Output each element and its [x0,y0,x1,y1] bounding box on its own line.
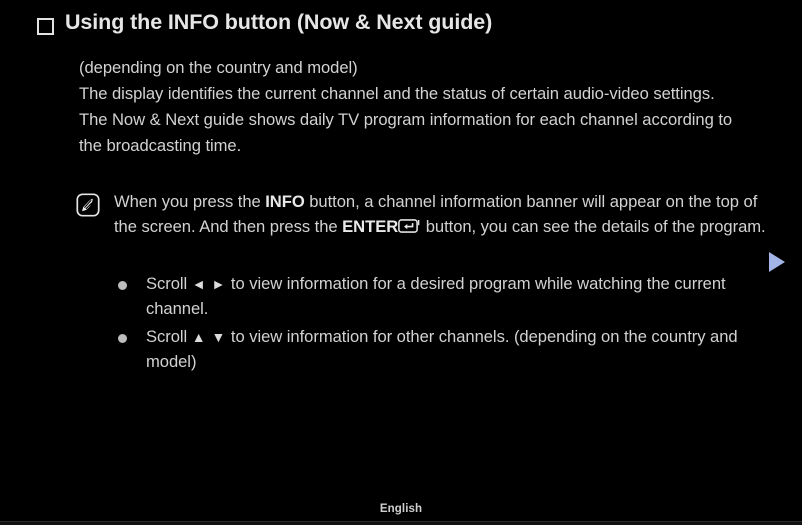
bullet-text-vertical-scroll: Scroll ▲ ▼ to view information for other… [146,325,768,374]
body-text-block: (depending on the country and model) The… [79,55,745,159]
paragraph-depending-note: (depending on the country and model) [79,55,745,81]
bullet-dot-icon [118,281,127,290]
page-title: Using the INFO button (Now & Next guide) [65,10,492,35]
note-emphasis-info: INFO [265,192,304,211]
note-emphasis-enter: ENTER [342,217,398,236]
square-bullet-icon [36,17,58,41]
manual-page: Using the INFO button (Now & Next guide)… [0,0,802,525]
bullet-text-part-1: Scroll [146,274,192,293]
paragraph-now-next-guide: The Now & Next guide shows daily TV prog… [79,107,745,159]
note-text-part-1: When you press the [114,192,265,211]
paragraph-display-identifies: The display identifies the current chann… [79,81,745,107]
bullet-list: Scroll ◄ ► to view information for a des… [118,272,768,378]
bullet-text-part-2: to view information for a desired progra… [146,274,726,318]
next-page-arrow-icon[interactable] [766,250,788,274]
bullet-text-part-1: Scroll [146,327,192,346]
enter-return-key-icon [398,217,420,232]
list-item: Scroll ◄ ► to view information for a des… [118,272,768,321]
arrow-left-right-triangle-icons: ◄ ► [192,276,227,292]
list-item: Scroll ▲ ▼ to view information for other… [118,325,768,374]
bottom-divider [0,521,802,525]
footer-language-label: English [380,503,422,515]
note-text-part-3: button, you can see the details of the p… [421,217,765,236]
page-title-row: Using the INFO button (Now & Next guide) [36,10,776,41]
footer: English [0,499,802,517]
note-block: When you press the INFO button, a channe… [76,190,766,239]
bullet-dot-icon [118,334,127,343]
note-pencil-icon [76,193,100,217]
bullet-text-part-2: to view information for other channels. … [146,327,738,371]
arrow-up-down-triangle-icons: ▲ ▼ [192,329,227,345]
bullet-text-horizontal-scroll: Scroll ◄ ► to view information for a des… [146,272,768,321]
note-text: When you press the INFO button, a channe… [114,190,766,239]
